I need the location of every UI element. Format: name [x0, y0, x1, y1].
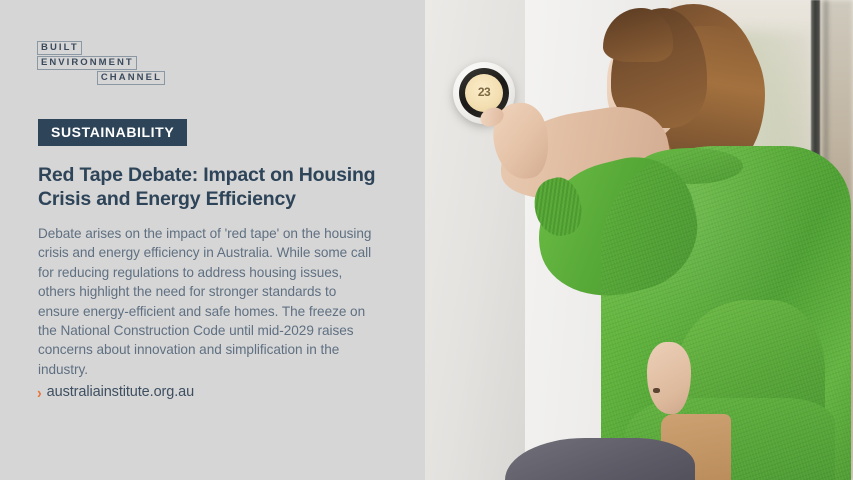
photo-person-ring: [653, 388, 660, 393]
social-card: BUILT ENVIRONMENT CHANNEL SUSTAINABILITY…: [0, 0, 853, 480]
category-badge[interactable]: SUSTAINABILITY: [38, 119, 187, 146]
photo-person-lower-hand: [647, 342, 691, 414]
content-panel: BUILT ENVIRONMENT CHANNEL SUSTAINABILITY…: [0, 0, 425, 480]
logo-word-built: BUILT: [37, 41, 82, 55]
logo-line-3: CHANNEL: [37, 71, 165, 85]
thermostat-display: 23: [465, 74, 503, 112]
logo-word-environment: ENVIRONMENT: [37, 56, 137, 70]
brand-logo[interactable]: BUILT ENVIRONMENT CHANNEL: [37, 41, 165, 86]
hero-photo: 23: [425, 0, 853, 480]
source-link[interactable]: › australiainstitute.org.au: [37, 384, 194, 400]
logo-line-2: ENVIRONMENT: [37, 56, 165, 70]
thermostat-temperature: 23: [478, 85, 490, 99]
chevron-right-icon: ›: [37, 384, 42, 400]
article-summary: Debate arises on the impact of 'red tape…: [38, 224, 378, 379]
logo-line-1: BUILT: [37, 41, 165, 55]
article-headline: Red Tape Debate: Impact on Housing Crisi…: [38, 163, 398, 211]
source-url-label[interactable]: australiainstitute.org.au: [47, 384, 194, 400]
logo-word-channel: CHANNEL: [97, 71, 165, 85]
